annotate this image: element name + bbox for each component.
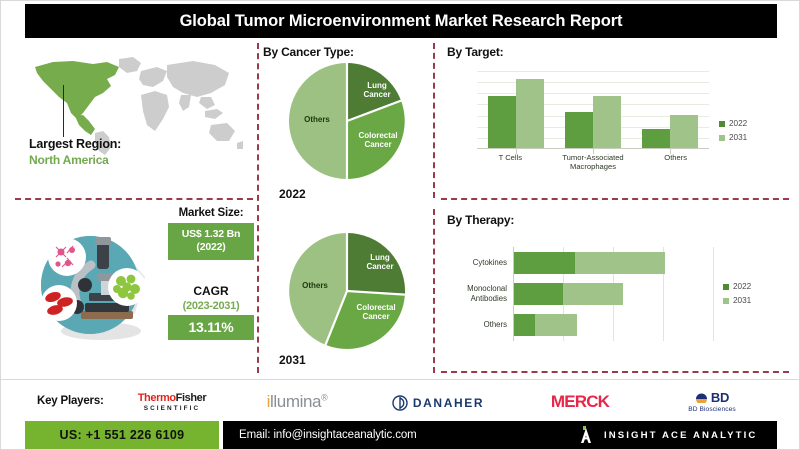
microscope-icon bbox=[23, 219, 163, 359]
section-heading-therapy: By Therapy: bbox=[447, 213, 514, 227]
bar-row-others bbox=[513, 310, 713, 341]
bar-chart-by-therapy bbox=[513, 247, 713, 341]
bar-others-2031 bbox=[670, 115, 698, 149]
market-size-year: (2022) bbox=[168, 241, 254, 254]
footer-email-text: Email: info@insightaceanalytic.com bbox=[239, 429, 417, 441]
y-axis-category-labels: Cytokines Monoclonal Antibodies Others bbox=[441, 247, 507, 341]
x-tick-label-t-cells: T Cells bbox=[469, 153, 552, 172]
y-tick-label-cytokines: Cytokines bbox=[441, 247, 507, 278]
cagr-label: CAGR bbox=[161, 284, 261, 298]
bar-chart-by-target bbox=[477, 71, 709, 149]
legend-item-2031: 2031 bbox=[719, 133, 789, 142]
largest-region-block: Largest Region: North America bbox=[29, 137, 229, 167]
bar-cytokines-2031 bbox=[575, 252, 665, 274]
bar-monoclonal-2022 bbox=[513, 283, 563, 305]
bar-cytokines-2022 bbox=[513, 252, 575, 274]
logo-bd-subtitle: BD Biosciences bbox=[657, 406, 767, 413]
footer-phone-block[interactable]: US: +1 551 226 6109 bbox=[25, 421, 219, 449]
cagr-period: (2023-2031) bbox=[161, 300, 261, 312]
legend-swatch-2031 bbox=[719, 135, 725, 141]
logo-thermo-word2: Fisher bbox=[176, 392, 207, 404]
largest-region-value: North America bbox=[29, 153, 229, 167]
market-size-block: Market Size: US$ 1.32 Bn (2022) bbox=[161, 207, 261, 260]
legend-swatch-2031 bbox=[723, 298, 729, 304]
divider-vertical-target-left bbox=[433, 43, 435, 198]
footer-phone-text: US: +1 551 226 6109 bbox=[60, 428, 185, 442]
bar-monoclonal-2031 bbox=[563, 283, 623, 305]
logo-thermo-word1: Thermo bbox=[138, 392, 176, 404]
logo-bd-text: BD bbox=[711, 391, 729, 404]
bar-macrophages-2031 bbox=[593, 96, 621, 149]
bar-t-cells-2031 bbox=[516, 79, 544, 149]
logo-merck: MERCK bbox=[525, 393, 635, 410]
infographic-root: Global Tumor Microenvironment Market Res… bbox=[0, 0, 800, 450]
cagr-value-chip: 13.11% bbox=[168, 315, 254, 340]
market-size-label: Market Size: bbox=[161, 207, 261, 219]
logo-danaher: DANAHER bbox=[373, 395, 503, 411]
pie-slice-label-lung-2031: LungCancer bbox=[355, 253, 405, 272]
market-size-value: US$ 1.32 Bn bbox=[168, 228, 254, 241]
footer-brand-block: INSIGHT ACE ANALYTIC bbox=[569, 421, 777, 449]
y-tick-label-monoclonal-antibodies: Monoclonal Antibodies bbox=[441, 278, 507, 309]
pie-slice-label-others-2022: Others bbox=[293, 115, 341, 124]
insight-ace-logo-icon bbox=[577, 425, 597, 445]
x-tick-label-macrophages: Tumor-Associated Macrophages bbox=[552, 153, 635, 172]
cagr-block: CAGR (2023-2031) 13.11% bbox=[161, 284, 261, 340]
key-players-label: Key Players: bbox=[37, 395, 104, 407]
legend-item-2022: 2022 bbox=[719, 119, 789, 128]
legend-by-target: 2022 2031 bbox=[719, 119, 789, 147]
bar-row-cytokines bbox=[513, 247, 713, 278]
legend-label-2031: 2031 bbox=[733, 296, 751, 305]
pie-slice-label-others-2031: Others bbox=[291, 281, 339, 290]
legend-label-2022: 2022 bbox=[729, 119, 747, 128]
legend-label-2031: 2031 bbox=[729, 133, 747, 142]
pie-chart-cancer-type-2031: LungCancer ColorectalCancer Others bbox=[285, 229, 409, 353]
divider-horizontal-left bbox=[15, 198, 253, 200]
divider-horizontal-bottom bbox=[441, 371, 789, 373]
logo-illumina-text: llumina bbox=[270, 392, 321, 411]
x-axis-category-labels: T Cells Tumor-Associated Macrophages Oth… bbox=[469, 153, 717, 172]
danaher-d-icon bbox=[392, 395, 408, 411]
pie-year-2031: 2031 bbox=[279, 353, 306, 367]
pie-slice-label-colorectal-2031: ColorectalCancer bbox=[347, 303, 405, 322]
section-heading-cancer-type: By Cancer Type: bbox=[263, 45, 354, 59]
logo-thermo-fisher-scientific: ThermoFisher SCIENTIFIC bbox=[123, 393, 221, 412]
legend-swatch-2022 bbox=[723, 284, 729, 290]
bar-t-cells-2022 bbox=[488, 96, 516, 149]
y-axis-line bbox=[513, 247, 514, 341]
key-players-separator bbox=[1, 379, 800, 380]
pie-slice-label-colorectal-2022: ColorectalCancer bbox=[349, 131, 407, 150]
footer-email-block[interactable]: Email: info@insightaceanalytic.com bbox=[223, 421, 569, 449]
legend-by-therapy: 2022 2031 bbox=[723, 282, 793, 310]
legend-item-2031: 2031 bbox=[723, 296, 793, 305]
footer-brand-text: INSIGHT ACE ANALYTIC bbox=[604, 430, 757, 441]
section-heading-target: By Target: bbox=[447, 45, 503, 59]
bar-therapy-others-2031 bbox=[535, 314, 577, 336]
trademark-icon: ® bbox=[321, 392, 327, 402]
logo-thermo-subtitle: SCIENTIFIC bbox=[123, 405, 221, 412]
x-tick-label-others: Others bbox=[634, 153, 717, 172]
logo-danaher-text: DANAHER bbox=[413, 396, 484, 410]
bar-macrophages-2022 bbox=[565, 112, 593, 149]
bar-others-2022 bbox=[642, 129, 670, 149]
bar-row-monoclonal-antibodies bbox=[513, 278, 713, 309]
bar-group-t-cells bbox=[477, 71, 554, 149]
header-bar: Global Tumor Microenvironment Market Res… bbox=[25, 4, 777, 38]
largest-region-label: Largest Region: bbox=[29, 137, 229, 151]
legend-swatch-2022 bbox=[719, 121, 725, 127]
market-size-value-chip: US$ 1.32 Bn (2022) bbox=[168, 223, 254, 260]
pie-chart-cancer-type-2022: LungCancer ColorectalCancer Others bbox=[285, 59, 409, 183]
logo-illumina: illumina® bbox=[239, 393, 355, 410]
map-pointer-line bbox=[63, 85, 64, 137]
legend-item-2022: 2022 bbox=[723, 282, 793, 291]
divider-vertical-therapy-left bbox=[433, 209, 435, 373]
bd-swoosh-icon bbox=[695, 392, 708, 403]
divider-horizontal-right bbox=[441, 198, 789, 200]
logo-bd-biosciences: BD BD Biosciences bbox=[657, 391, 767, 413]
pie-slice-label-lung-2022: LungCancer bbox=[351, 81, 403, 100]
bar-therapy-others-2022 bbox=[513, 314, 535, 336]
y-tick-label-others: Others bbox=[441, 310, 507, 341]
pie-year-2022: 2022 bbox=[279, 187, 306, 201]
bar-group-others bbox=[632, 71, 709, 149]
bar-group-macrophages bbox=[554, 71, 631, 149]
logo-merck-text: MERCK bbox=[525, 393, 635, 410]
legend-label-2022: 2022 bbox=[733, 282, 751, 291]
page-title: Global Tumor Microenvironment Market Res… bbox=[180, 12, 623, 31]
